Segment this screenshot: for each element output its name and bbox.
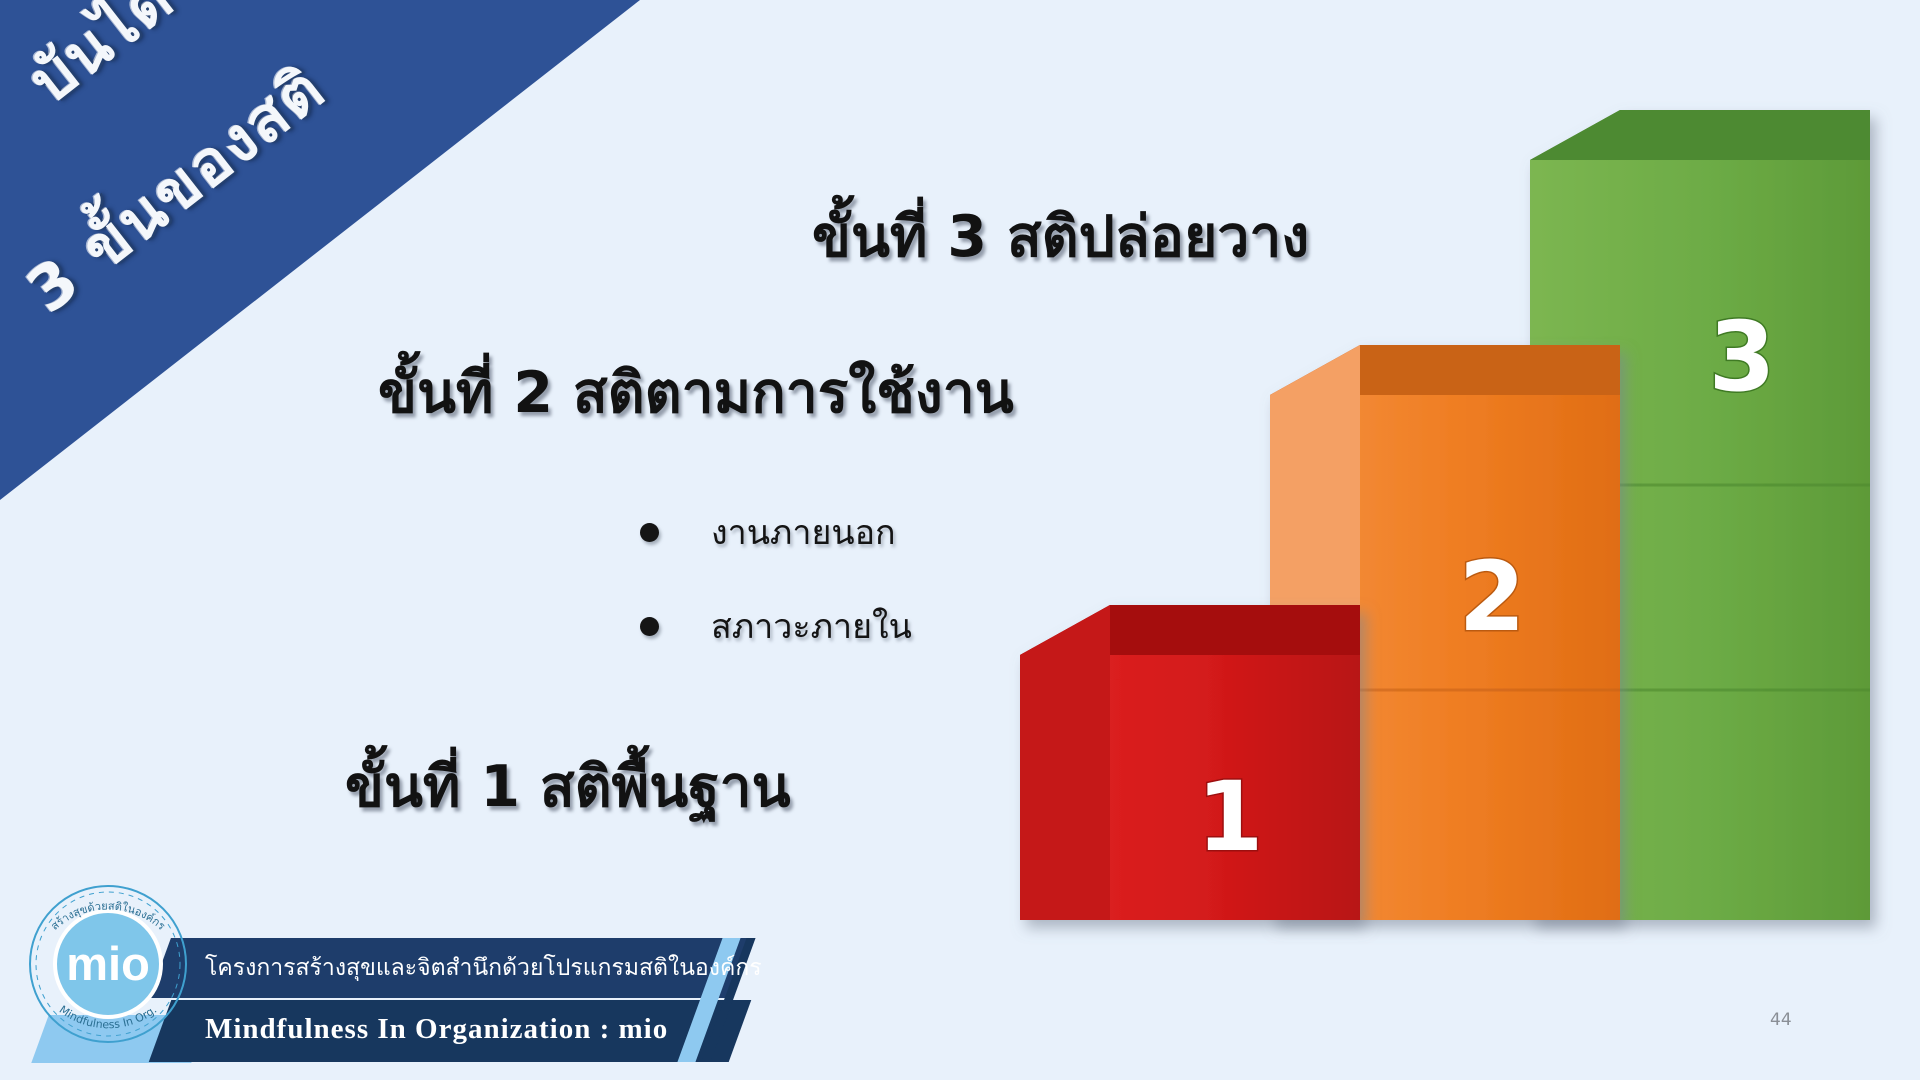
step-2-heading: ขั้นที่ 2 สติตามการใช้งาน bbox=[378, 348, 1014, 438]
mio-logo: mio สร้างสุขด้วยสติในองค์กร Mindfulness … bbox=[8, 862, 208, 1067]
bullet-dot-icon bbox=[640, 617, 659, 636]
staircase-diagram: 3 2 1 bbox=[0, 0, 1920, 1080]
step-1-cube-number: 1 bbox=[1197, 761, 1264, 873]
bullet-label: งานภายนอก bbox=[711, 505, 896, 559]
step-2-cube-number: 2 bbox=[1459, 541, 1526, 653]
bullet-label: สภาวะภายใน bbox=[711, 599, 912, 653]
footer-project-name: โครงการสร้างสุขและจิตสำนึกด้วยโปรแกรมสติ… bbox=[205, 950, 762, 986]
step-2-bullet-list: งานภายนอก สภาวะภายใน bbox=[640, 505, 912, 693]
list-item: งานภายนอก bbox=[640, 505, 912, 559]
bullet-dot-icon bbox=[640, 523, 659, 542]
list-item: สภาวะภายใน bbox=[640, 599, 912, 653]
logo-wordmark: mio bbox=[66, 937, 150, 990]
step-3-cube-number: 3 bbox=[1709, 301, 1776, 413]
page-number: 44 bbox=[1770, 1010, 1792, 1030]
step-3-heading: ขั้นที่ 3 สติปล่อยวาง bbox=[812, 192, 1309, 282]
footer-brand: Mindfulness In Organization : mio bbox=[205, 1013, 668, 1046]
step-1-heading: ขั้นที่ 1 สติพื้นฐาน bbox=[345, 742, 791, 832]
slide-canvas: บันได 3 ขั้นของสติ ขั้นที่ 3 สติปล่อยวาง… bbox=[0, 0, 1920, 1080]
step-1-cube-side bbox=[1020, 605, 1110, 920]
